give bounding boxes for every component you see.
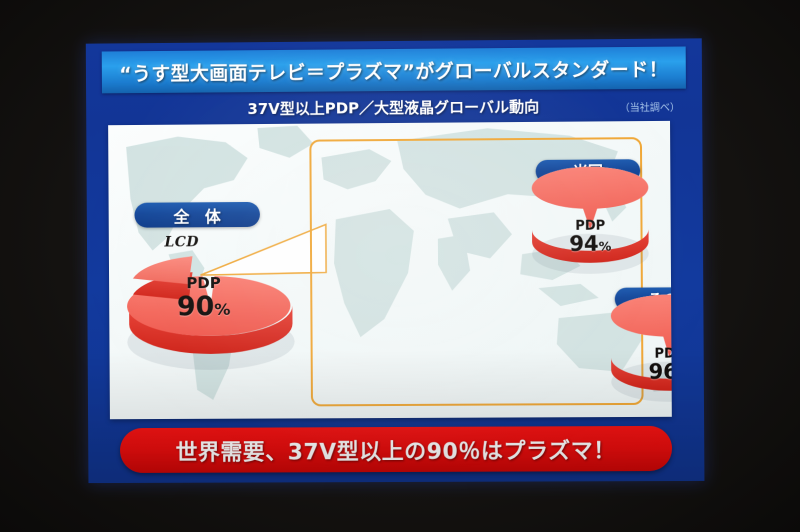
callout-connector	[198, 218, 328, 289]
pie-value-us: PDP 94%	[544, 219, 637, 255]
pie-chart-eu	[664, 184, 671, 277]
conclusion-banner: 世界需要、37V型以上の90％はプラズマ！	[120, 426, 672, 473]
slide-subtitle: 37V型以上PDP／大型液晶グローバル動向	[102, 95, 686, 121]
pie-value-other: PDP 96%	[623, 347, 672, 383]
photo-of-projected-slide: “うす型大画面テレビ＝プラズマ”がグローバルスタンダード！ 37V型以上PDP／…	[0, 0, 800, 532]
presentation-slide: “うす型大画面テレビ＝プラズマ”がグローバルスタンダード！ 37V型以上PDP／…	[86, 38, 705, 483]
source-note: （当社調べ）	[620, 99, 680, 115]
slide-title-bar: “うす型大画面テレビ＝プラズマ”がグローバルスタンダード！	[102, 46, 686, 93]
slide-title: “うす型大画面テレビ＝プラズマ”がグローバルスタンダード！	[119, 54, 668, 86]
world-map-chart-panel: 全 体 LCD	[108, 121, 672, 419]
conclusion-banner-text: 世界需要、37V型以上の90％はプラズマ！	[175, 433, 616, 467]
slide-subtitle-row: 37V型以上PDP／大型液晶グローバル動向 （当社調べ）	[102, 92, 686, 125]
regional-charts-callout-box: 米国	[309, 137, 643, 406]
